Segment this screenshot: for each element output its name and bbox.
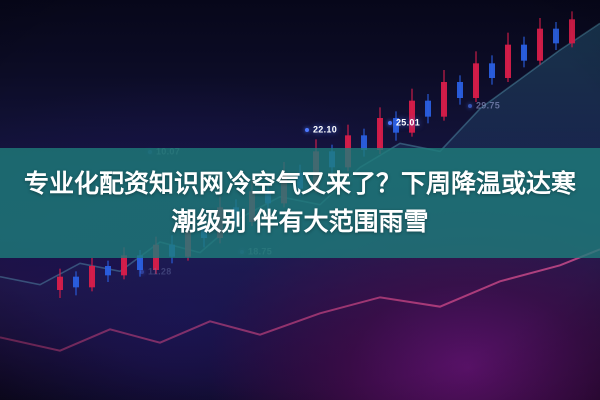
headline-band: 专业化配资知识网冷空气又来了？下周降温或达寒潮级别 伴有大范围雨雪	[0, 148, 600, 258]
site-name: 专业化配资知识网	[24, 170, 224, 198]
banner-image: 22.1025.0129.7510.0718.7511.28 专业化配资知识网冷…	[0, 0, 600, 400]
headline-text: 专业化配资知识网冷空气又来了？下周降温或达寒潮级别 伴有大范围雨雪	[10, 165, 590, 241]
headline-body: 冷空气又来了？下周降温或达寒潮级别 伴有大范围雨雪	[172, 170, 577, 236]
